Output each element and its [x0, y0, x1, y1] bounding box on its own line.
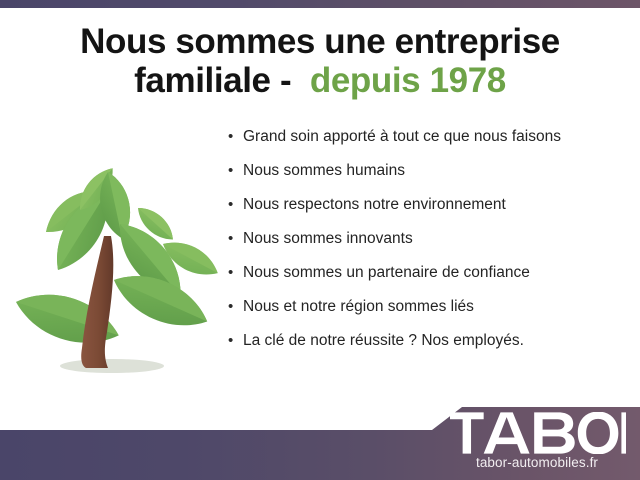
list-item: • Nous sommes un partenaire de confiance — [228, 262, 632, 296]
page-title: Nous sommes une entreprise familiale - d… — [0, 22, 640, 100]
bullet-icon: • — [228, 262, 243, 284]
bullet-icon: • — [228, 296, 243, 318]
list-item-label: Nous respectons notre environnement — [243, 194, 632, 216]
title-line-1: Nous sommes une entreprise — [0, 22, 640, 61]
list-item: • Nous sommes innovants — [228, 228, 632, 262]
list-item-label: Nous sommes innovants — [243, 228, 632, 250]
tabor-logo[interactable]: tabor-automobiles.fr — [450, 412, 626, 470]
bullet-icon: • — [228, 330, 243, 352]
list-item-label: La clé de notre réussite ? Nos employés. — [243, 330, 632, 352]
brand-domain-label: tabor-automobiles.fr — [450, 455, 626, 470]
tree-trunk — [81, 236, 113, 368]
list-item-label: Nous sommes un partenaire de confiance — [243, 262, 632, 284]
bullet-icon: • — [228, 228, 243, 250]
list-item-label: Grand soin apporté à tout ce que nous fa… — [243, 126, 632, 148]
bullet-icon: • — [228, 194, 243, 216]
footer-brand-bar: tabor-automobiles.fr — [0, 400, 640, 480]
bullet-icon: • — [228, 126, 243, 148]
list-item: • Grand soin apporté à tout ce que nous … — [228, 126, 632, 160]
title-line-2: familiale - depuis 1978 — [0, 61, 640, 100]
bullet-icon: • — [228, 160, 243, 182]
title-line-2-main: familiale - — [134, 61, 310, 100]
tree-shadow — [60, 359, 164, 373]
top-accent-bar — [0, 0, 640, 8]
list-item: • Nous respectons notre environnement — [228, 194, 632, 228]
green-tree-icon — [8, 152, 220, 392]
slide-canvas: Nous sommes une entreprise familiale - d… — [0, 0, 640, 480]
tabor-wordmark-icon — [450, 412, 626, 454]
list-item-label: Nous et notre région sommes liés — [243, 296, 632, 318]
value-proposition-list: • Grand soin apporté à tout ce que nous … — [228, 126, 632, 364]
list-item: • Nous sommes humains — [228, 160, 632, 194]
list-item-label: Nous sommes humains — [243, 160, 632, 182]
list-item: • La clé de notre réussite ? Nos employé… — [228, 330, 632, 364]
list-item: • Nous et notre région sommes liés — [228, 296, 632, 330]
title-line-2-accent: depuis 1978 — [310, 61, 506, 100]
